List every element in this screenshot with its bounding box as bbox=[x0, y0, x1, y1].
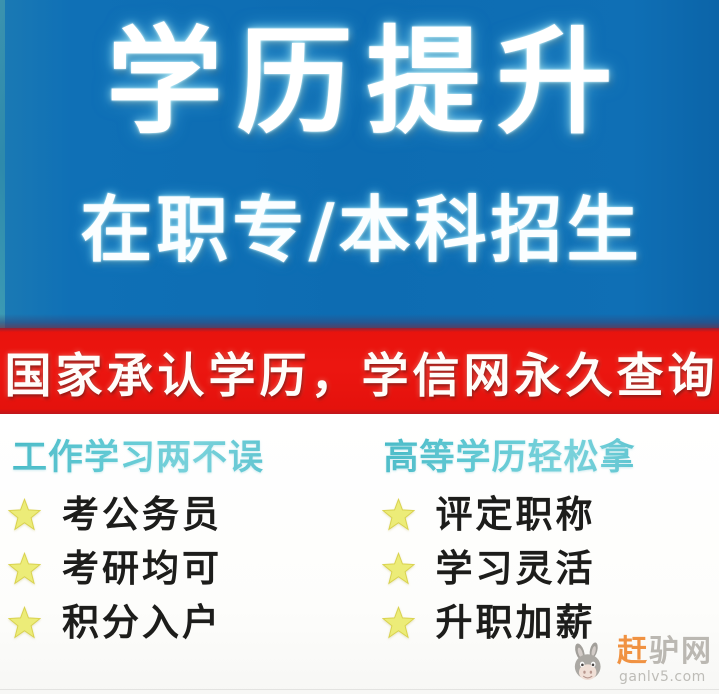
benefits-columns: 工作学习两不误 考公务员 考研均可 bbox=[0, 438, 719, 649]
star-icon bbox=[8, 552, 41, 585]
watermark-url: ganlv5.com bbox=[619, 669, 706, 685]
list-item-label: 积分入户 bbox=[59, 604, 222, 641]
list-item-label: 考公务员 bbox=[59, 496, 222, 533]
list-item: 考公务员 bbox=[8, 487, 346, 541]
hero-banner: 学历提升 在职专/本科招生 bbox=[0, 0, 719, 328]
star-icon bbox=[8, 498, 41, 531]
donkey-icon bbox=[567, 640, 613, 686]
list-item: 积分入户 bbox=[8, 595, 346, 649]
list-item: 学习灵活 bbox=[382, 541, 719, 595]
watermark-brand-part2: 驴网 bbox=[649, 634, 713, 669]
accreditation-banner: 国家承认学历，学信网永久查询 bbox=[0, 328, 719, 414]
list-item: 评定职称 bbox=[382, 487, 719, 541]
benefits-column-right: 高等学历轻松拿 评定职称 学习灵活 bbox=[346, 438, 719, 649]
benefits-list-left: 考公务员 考研均可 积分入户 bbox=[8, 487, 346, 649]
list-item-label: 评定职称 bbox=[433, 496, 596, 533]
site-watermark: 赶驴网 ganlv5.com bbox=[567, 636, 713, 686]
education-promo-poster: 学历提升 在职专/本科招生 国家承认学历，学信网永久查询 工作学习两不误 考公务… bbox=[0, 0, 719, 694]
star-icon bbox=[8, 606, 41, 639]
watermark-text-group: 赶驴网 ganlv5.com bbox=[617, 636, 713, 685]
page-title: 学历提升 bbox=[0, 18, 719, 148]
page-subtitle: 在职专/本科招生 bbox=[0, 190, 719, 269]
benefits-panel: 工作学习两不误 考公务员 考研均可 bbox=[0, 414, 719, 694]
accreditation-banner-text: 国家承认学历，学信网永久查询 bbox=[1, 337, 719, 406]
list-item-label: 学习灵活 bbox=[433, 550, 596, 587]
watermark-brand: 赶驴网 bbox=[617, 636, 713, 668]
star-icon bbox=[382, 606, 415, 639]
list-item: 考研均可 bbox=[8, 541, 346, 595]
benefits-list-right: 评定职称 学习灵活 升职加薪 bbox=[382, 487, 719, 649]
watermark-brand-part1: 赶 bbox=[617, 634, 649, 669]
benefits-column-left: 工作学习两不误 考公务员 考研均可 bbox=[0, 438, 346, 649]
star-icon bbox=[382, 552, 415, 585]
benefits-column-right-heading: 高等学历轻松拿 bbox=[384, 438, 719, 477]
benefits-column-left-heading: 工作学习两不误 bbox=[12, 438, 346, 477]
star-icon bbox=[382, 498, 415, 531]
list-item-label: 考研均可 bbox=[59, 550, 222, 587]
